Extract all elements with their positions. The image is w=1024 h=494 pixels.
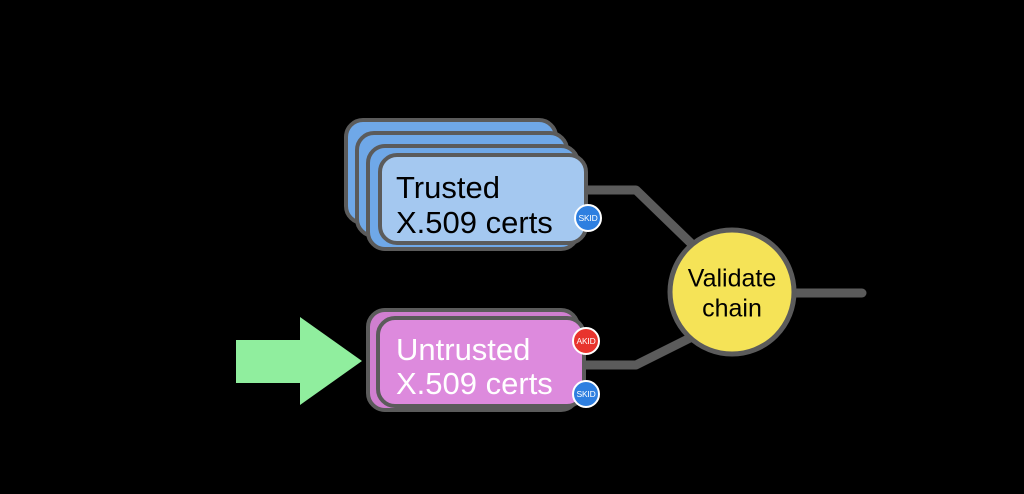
validate-chain-label-line2: chain [702, 295, 762, 323]
input-arrow [236, 317, 362, 405]
node-trusted-certs[interactable]: Trusted X.509 certs SKID [346, 120, 601, 249]
untrusted-skid-badge[interactable]: SKID [573, 381, 599, 407]
connector-trusted-to-validate [585, 190, 700, 252]
trusted-label-line1: Trusted [396, 170, 500, 205]
untrusted-label-line1: Untrusted [396, 332, 530, 367]
validate-chain-label-line1: Validate [688, 265, 777, 293]
connector-untrusted-to-validate [585, 333, 700, 365]
diagram-canvas: Trusted X.509 certs SKID Untrusted X.509… [0, 0, 1024, 494]
trusted-label-line2: X.509 certs [396, 205, 553, 240]
node-untrusted-certs[interactable]: Untrusted X.509 certs AKID SKID [368, 310, 599, 410]
untrusted-label-line2: X.509 certs [396, 366, 553, 401]
untrusted-skid-badge-label: SKID [576, 389, 595, 399]
trusted-skid-badge[interactable]: SKID [575, 205, 601, 231]
untrusted-akid-badge-label: AKID [576, 336, 595, 346]
certificate-chain-diagram: Trusted X.509 certs SKID Untrusted X.509… [0, 0, 1024, 494]
input-arrow-shape [236, 317, 362, 405]
trusted-skid-badge-label: SKID [578, 213, 597, 223]
node-validate-chain[interactable]: Validate chain [670, 230, 794, 354]
untrusted-akid-badge[interactable]: AKID [573, 328, 599, 354]
